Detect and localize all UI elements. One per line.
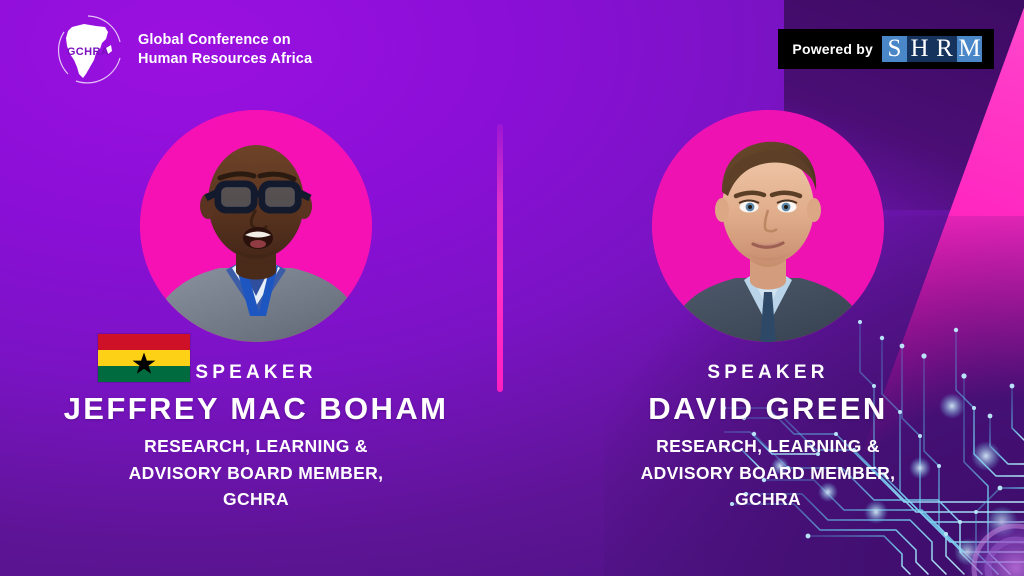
speaker-photo-jeffrey-mac-boham (140, 110, 372, 342)
speaker-title-right-line-2: ADVISORY BOARD MEMBER, (512, 460, 1024, 487)
speaker-title-right-line-3: GCHRA (512, 486, 1024, 513)
speaker-title-left-line-3: GCHRA (0, 486, 512, 513)
speaker-role-label-left: SPEAKER (0, 362, 512, 384)
speaker-card-left: SPEAKER JEFFREY MAC BOHAM RESEARCH, LEAR… (0, 0, 512, 576)
speaker-title-left-line-2: ADVISORY BOARD MEMBER, (0, 460, 512, 487)
speaker-name-left: JEFFREY MAC BOHAM (0, 391, 512, 427)
speaker-title-right-line-1: RESEARCH, LEARNING & (512, 433, 1024, 460)
speaker-name-right: DAVID GREEN (512, 391, 1024, 427)
speaker-title-left-line-1: RESEARCH, LEARNING & (0, 433, 512, 460)
speaker-role-label-right: SPEAKER (512, 362, 1024, 384)
speaker-title-left: RESEARCH, LEARNING & ADVISORY BOARD MEMB… (0, 433, 512, 513)
speaker-photo-david-green (652, 110, 884, 342)
speaker-card-right: SPEAKER DAVID GREEN RESEARCH, LEARNING &… (512, 0, 1024, 576)
speaker-title-right: RESEARCH, LEARNING & ADVISORY BOARD MEMB… (512, 433, 1024, 513)
speaker-announcement-banner: GCHRA Global Conference on Human Resourc… (0, 0, 1024, 576)
